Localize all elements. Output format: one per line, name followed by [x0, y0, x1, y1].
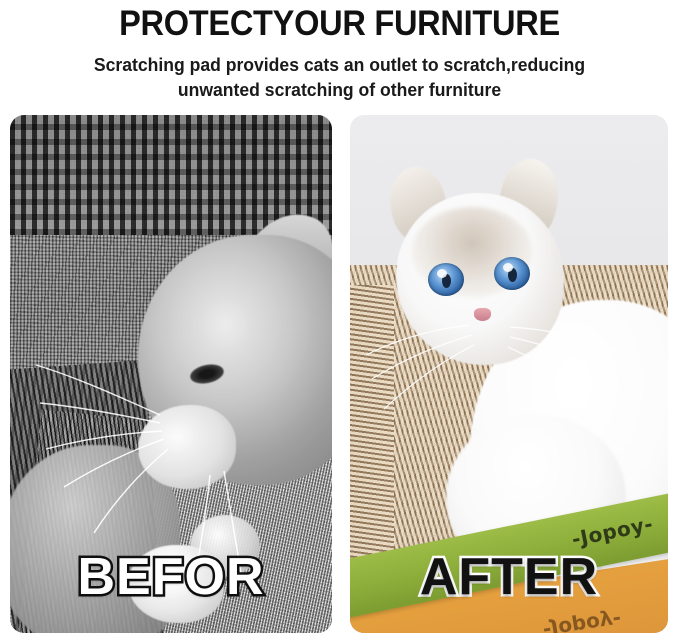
header: PROTECTYOUR FURNITURE Scratching pad pro…	[0, 0, 679, 102]
white-cat-eye-right	[494, 257, 530, 290]
page-title: PROTECTYOUR FURNITURE	[24, 2, 655, 46]
after-panel: -Jopoy- -Jopoy- AFTER	[350, 115, 668, 633]
page-subtitle: Scratching pad provides cats an outlet t…	[17, 52, 662, 102]
brand-logo: -Jopoy-	[570, 511, 656, 551]
before-panel: BEFOR	[10, 115, 332, 633]
subtitle-line-1: Scratching pad provides cats an outlet t…	[17, 52, 662, 77]
comparison-panels: BEFOR	[0, 115, 679, 633]
after-label: AFTER	[350, 551, 668, 603]
product-infographic: PROTECTYOUR FURNITURE Scratching pad pro…	[0, 0, 679, 633]
white-cat-eye-left	[428, 263, 464, 296]
brand-logo-reflection: -Jopoy-	[541, 607, 623, 633]
grey-cat-muzzle	[138, 405, 236, 489]
white-cat-nose	[474, 308, 491, 321]
before-label: BEFOR	[10, 551, 332, 603]
subtitle-line-2: unwanted scratching of other furniture	[17, 77, 662, 102]
